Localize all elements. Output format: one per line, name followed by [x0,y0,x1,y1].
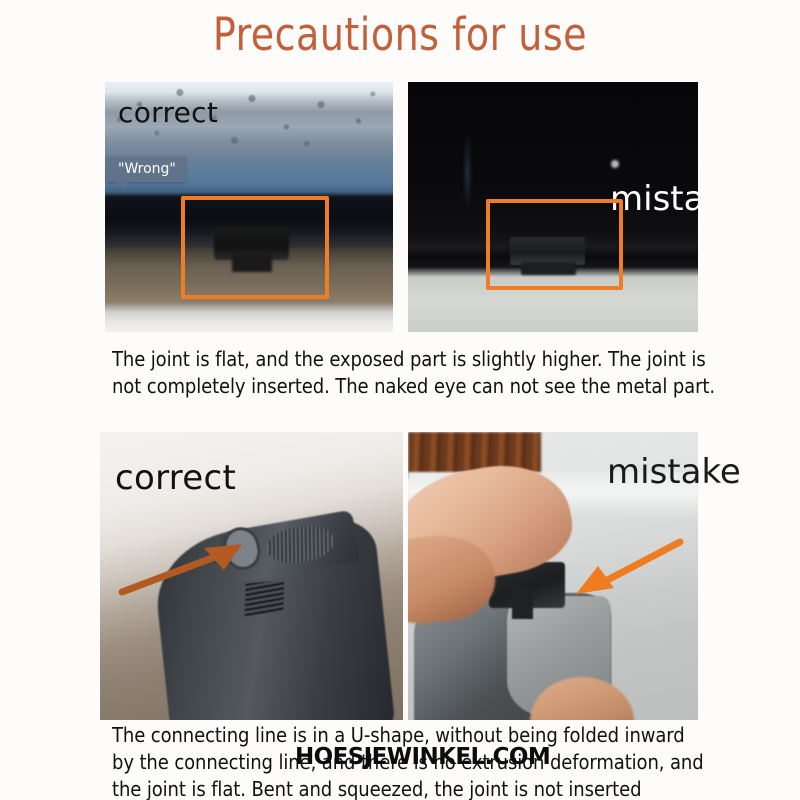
label-correct-row1: correct [118,96,218,129]
watermark-hoesjewinkel: HOESJEWINKEL.COM [295,744,550,770]
caption-row1-line2: not completely inserted. The naked eye c… [112,373,715,400]
label-mistake-row2: mistake [607,452,741,492]
arrow-up-right-icon [118,536,248,598]
caption-row-1: The joint is flat, and the exposed part … [112,346,715,400]
badge-wrong-tooltip: "Wrong" [106,157,186,182]
caption-row1-line1: The joint is flat, and the exposed part … [112,346,715,373]
panel-mistake-flat-joint: mista [408,82,698,332]
precautions-infographic: Precautions for use correct "Wrong" mist… [0,0,800,800]
page-title: Precautions for use [24,8,776,61]
highlight-rect-panel2 [486,199,623,290]
arrow-down-left-icon [566,536,686,600]
caption-row2-line3: the joint is flat. Bent and squeezed, th… [112,776,704,800]
highlight-rect-panel1 [181,196,329,299]
label-mistake-row1: mista [610,179,698,219]
label-correct-row2: correct [115,458,236,498]
